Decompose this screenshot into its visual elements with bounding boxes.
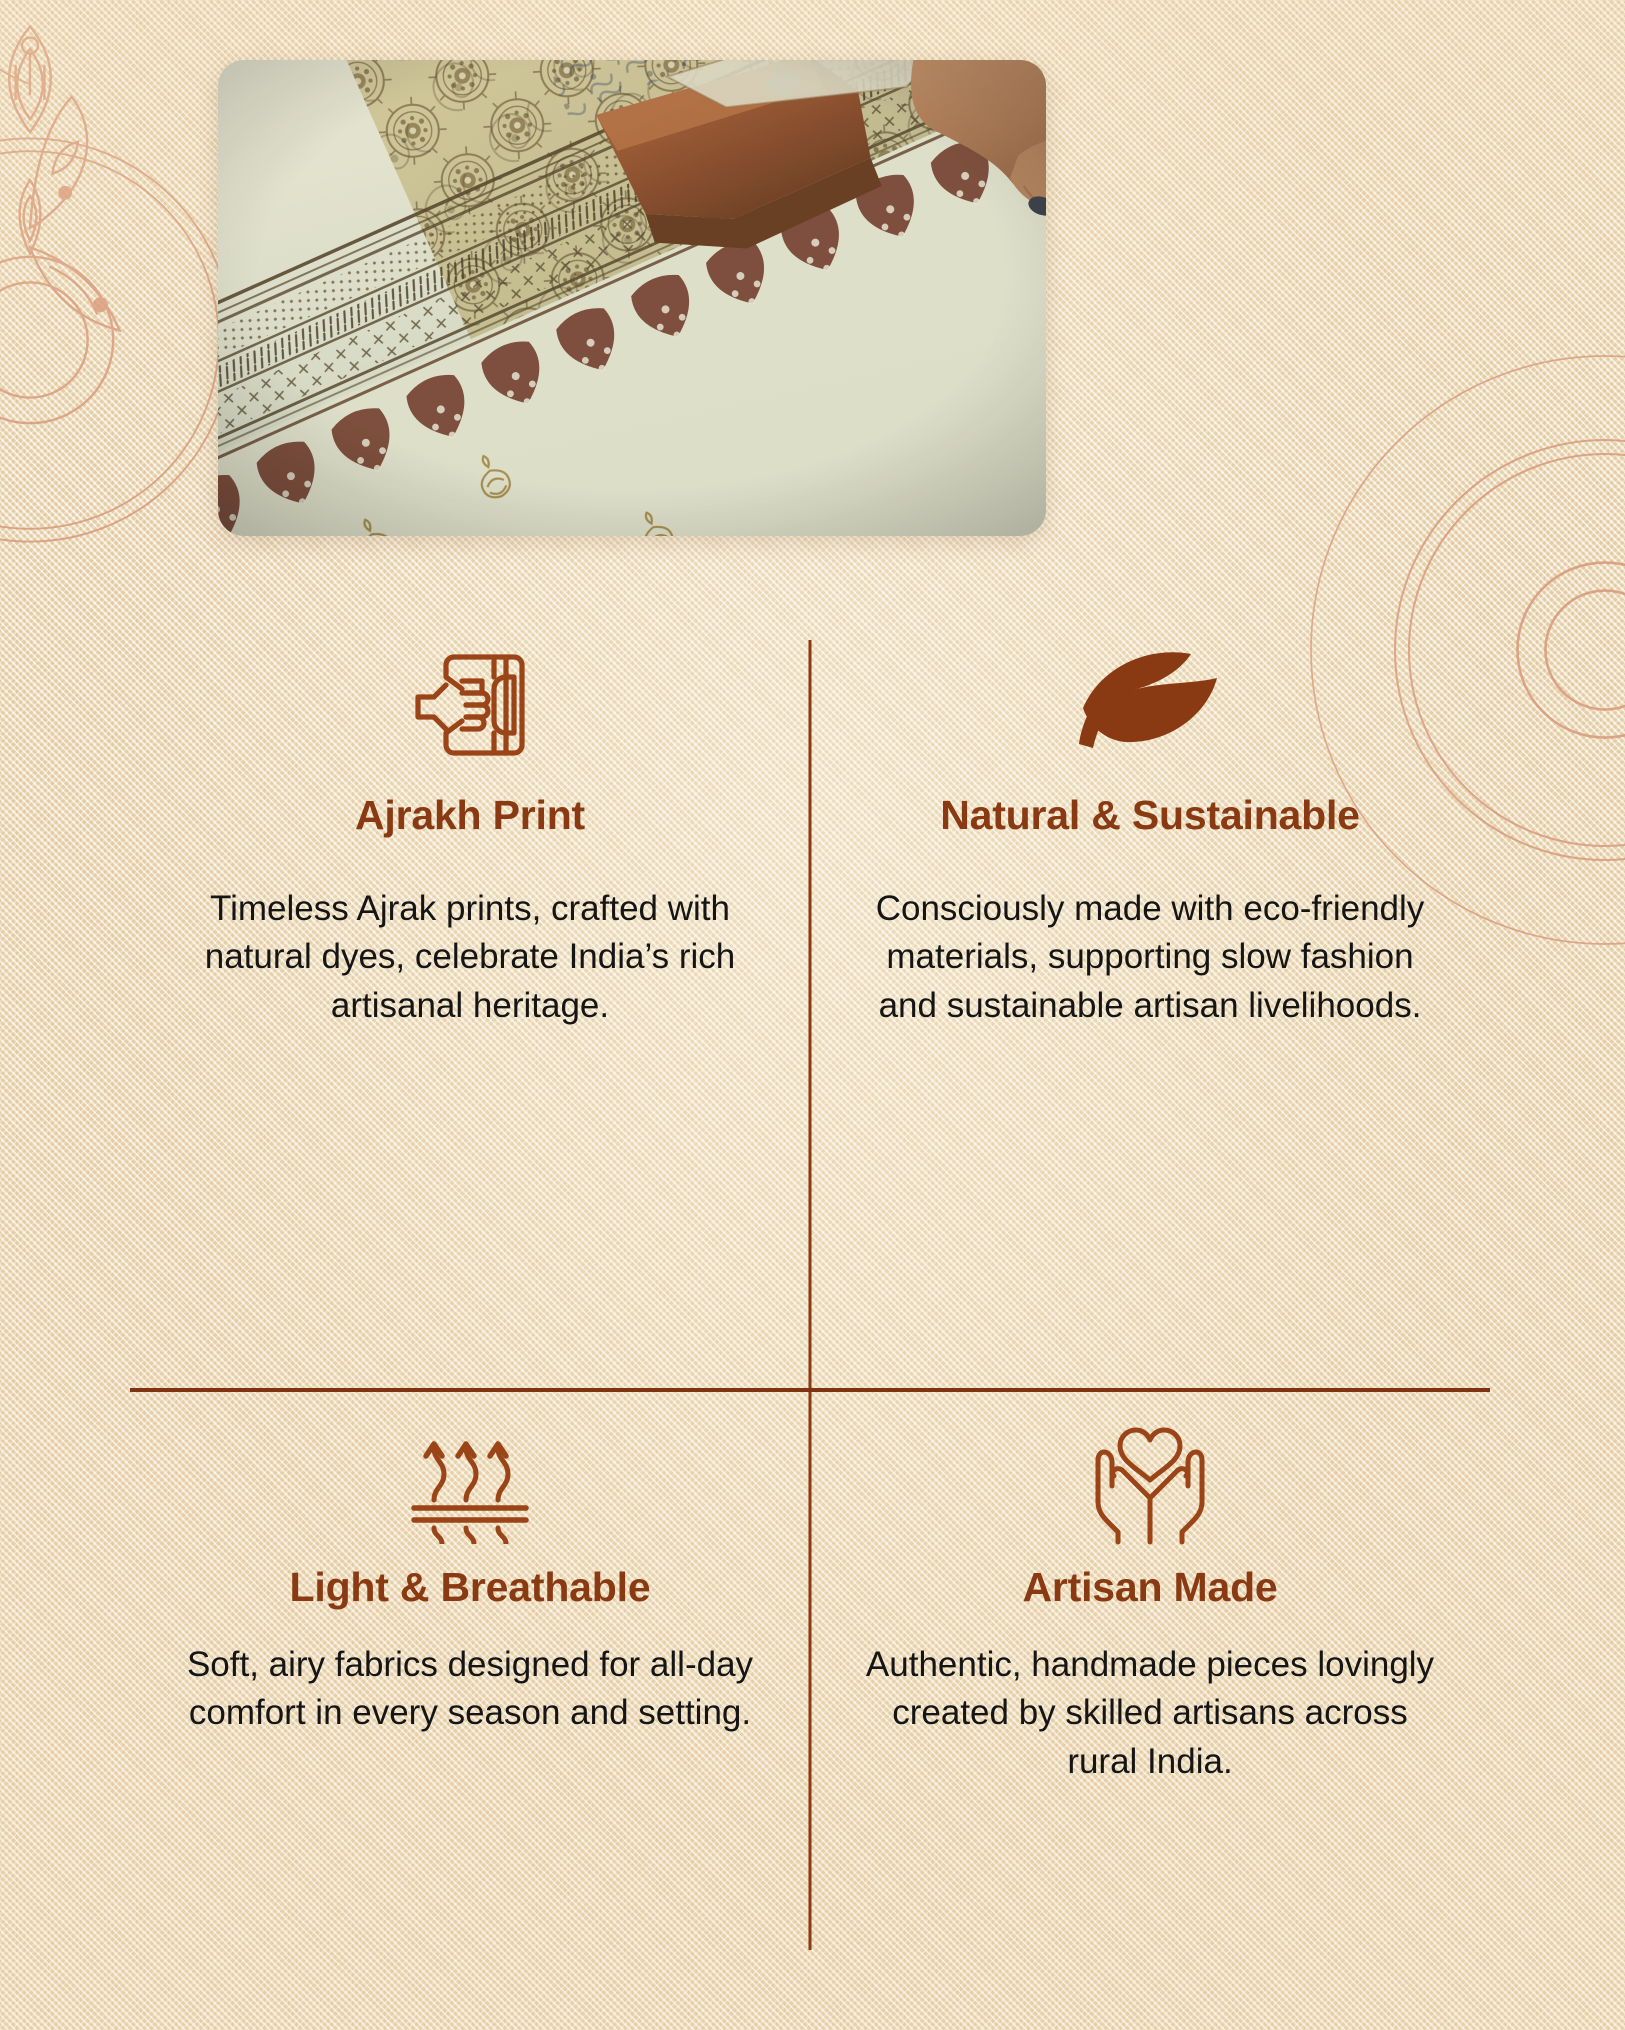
feature-title: Natural & Sustainable [940, 792, 1360, 839]
leaf-icon [1075, 640, 1225, 770]
feature-artisan-made: Artisan Made Authentic, handmade pieces … [810, 1420, 1490, 1786]
feature-title: Light & Breathable [290, 1564, 651, 1611]
breathable-airflow-icon [408, 1420, 532, 1550]
feature-description: Timeless Ajrak prints, crafted with natu… [176, 885, 764, 1030]
feature-title: Ajrakh Print [355, 792, 585, 839]
feature-description: Soft, airy fabrics designed for all-day … [176, 1641, 764, 1738]
feature-light-breathable: Light & Breathable Soft, airy fabrics de… [130, 1420, 810, 1738]
ajrakh-block-printing-photo [218, 60, 1046, 536]
feature-title: Artisan Made [1022, 1564, 1277, 1611]
feature-description: Consciously made with eco-friendly mater… [856, 885, 1444, 1030]
features-grid: Ajrakh Print Timeless Ajrak prints, craf… [130, 640, 1490, 1950]
block-print-stamp-icon [406, 640, 534, 770]
feature-description: Authentic, handmade pieces lovingly crea… [856, 1641, 1444, 1786]
feature-ajrakh-print: Ajrakh Print Timeless Ajrak prints, craf… [130, 640, 810, 1030]
feature-natural-sustainable: Natural & Sustainable Consciously made w… [810, 640, 1490, 1030]
horizontal-divider [130, 1388, 1490, 1392]
hands-holding-heart-icon [1088, 1420, 1212, 1550]
